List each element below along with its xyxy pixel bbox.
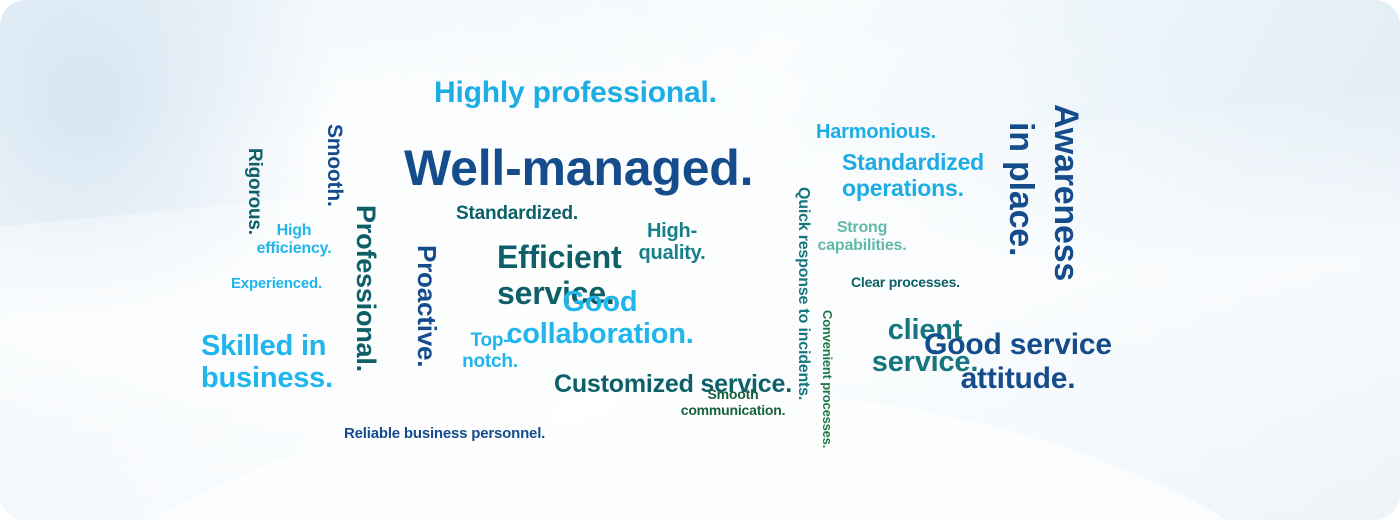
wordcloud-word-good-service-attitude: Good service attitude.: [924, 328, 1112, 395]
wordcloud-word-professional: Professional.: [351, 205, 381, 372]
wordcloud-word-clear-processes: Clear processes.: [851, 275, 960, 291]
background-wash: [0, 0, 340, 360]
decorative-diagonal-band: [0, 60, 1400, 520]
wordcloud-word-harmonious: Harmonious.: [816, 121, 936, 143]
decorative-arc: [797, 0, 1400, 520]
wordcloud-word-convenient-processes: Convenient processes.: [819, 310, 834, 448]
wordcloud-word-experienced: Experienced.: [231, 276, 322, 293]
wordcloud-word-highly-professional: Highly professional.: [434, 76, 717, 110]
wordcloud-word-quick-response-to-incidents: Quick response to incidents.: [794, 187, 812, 400]
wordcloud-word-strong-capabilities: Strong capabilities.: [818, 219, 907, 255]
wordcloud-word-standardized-operations: Standardized operations.: [842, 150, 984, 202]
wordcloud-word-awareness-in-place: Awareness: [1047, 104, 1085, 281]
wordcloud-word-smooth-communication: Smooth communication.: [681, 387, 786, 418]
wordcloud-word-high-quality: High- quality.: [639, 220, 706, 265]
wordcloud-canvas: Highly professional.Well-managed.Smooth.…: [0, 0, 1400, 520]
wordcloud-word-smooth: Smooth.: [322, 124, 346, 207]
wordcloud-word-in-place: in place.: [1002, 122, 1040, 256]
wordcloud-word-good-collaboration: Good collaboration.: [506, 286, 693, 351]
decorative-arc: [651, 0, 1400, 520]
decorative-arc: [604, 0, 1400, 520]
wordcloud-word-proactive: Proactive.: [412, 245, 441, 367]
wordcloud-word-standardized: Standardized.: [456, 203, 578, 224]
wordcloud-word-high-efficiency: High efficiency.: [257, 222, 332, 258]
wordcloud-word-reliable-business-personnel: Reliable business personnel.: [344, 426, 545, 443]
wordcloud-word-skilled-in-business: Skilled in business.: [201, 330, 333, 395]
wordcloud-word-well-managed: Well-managed.: [404, 140, 753, 196]
